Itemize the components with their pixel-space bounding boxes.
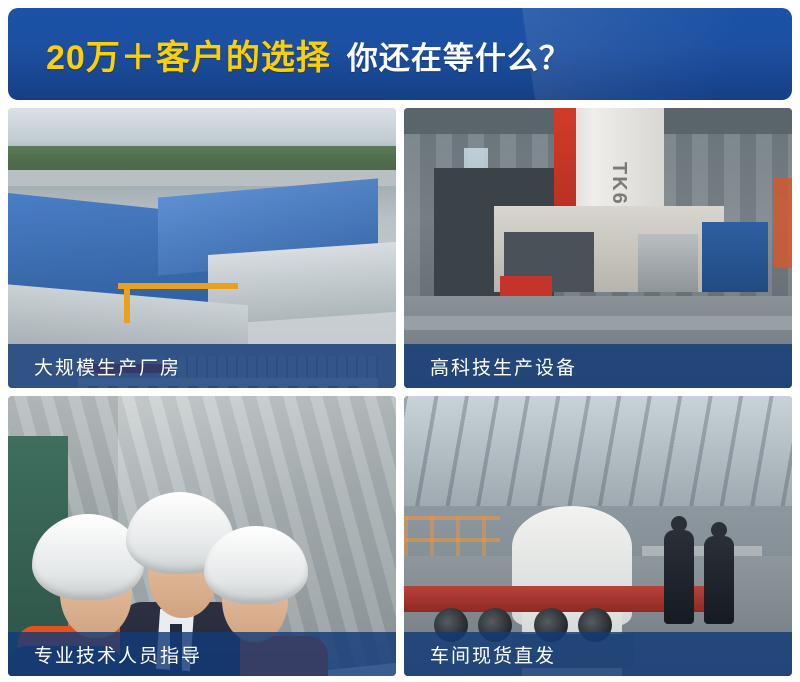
caption-large-scale-production-workshop: 大规模生产厂房 bbox=[8, 344, 396, 388]
header-banner: 20万＋客户的选择 你还在等什么？ bbox=[8, 8, 792, 100]
grey-cabinet bbox=[638, 234, 698, 292]
gallery-item-high-tech-production-equipment[interactable]: TK6920A 高科技生产设备 bbox=[404, 108, 792, 388]
worker-standing bbox=[704, 536, 734, 624]
photo-grid: 大规模生产厂房 TK6920A 高科技生产设备 bbox=[8, 108, 792, 676]
headline-highlight: 20万＋客户的选择 bbox=[46, 30, 331, 79]
gallery-item-workshop-stock-direct-shipping[interactable]: 车间现货直发 bbox=[404, 396, 792, 676]
gallery-item-professional-technical-guidance[interactable]: 厂家直人 专业技术人员指导 bbox=[8, 396, 396, 676]
caption-professional-technical-guidance: 专业技术人员指导 bbox=[8, 632, 396, 676]
caption-high-tech-production-equipment: 高科技生产设备 bbox=[404, 344, 792, 388]
headline-rest: 你还在等什么？ bbox=[347, 33, 571, 78]
orange-strip bbox=[774, 178, 792, 268]
worker-standing bbox=[664, 530, 694, 624]
blue-cabinet bbox=[702, 222, 768, 292]
caption-workshop-stock-direct-shipping: 车间现货直发 bbox=[404, 632, 792, 676]
promo-page: 20万＋客户的选择 你还在等什么？ 大规模生 bbox=[0, 0, 800, 682]
gallery-item-large-scale-production-workshop[interactable]: 大规模生产厂房 bbox=[8, 108, 396, 388]
gantry-crane-leg bbox=[124, 283, 130, 323]
roof-beams bbox=[404, 396, 792, 516]
gantry-crane-beam bbox=[118, 283, 238, 289]
headline-group: 20万＋客户的选择 你还在等什么？ bbox=[8, 30, 571, 79]
machine-red-block bbox=[500, 276, 552, 296]
machine-rail bbox=[404, 316, 792, 330]
tree-line bbox=[8, 146, 396, 172]
